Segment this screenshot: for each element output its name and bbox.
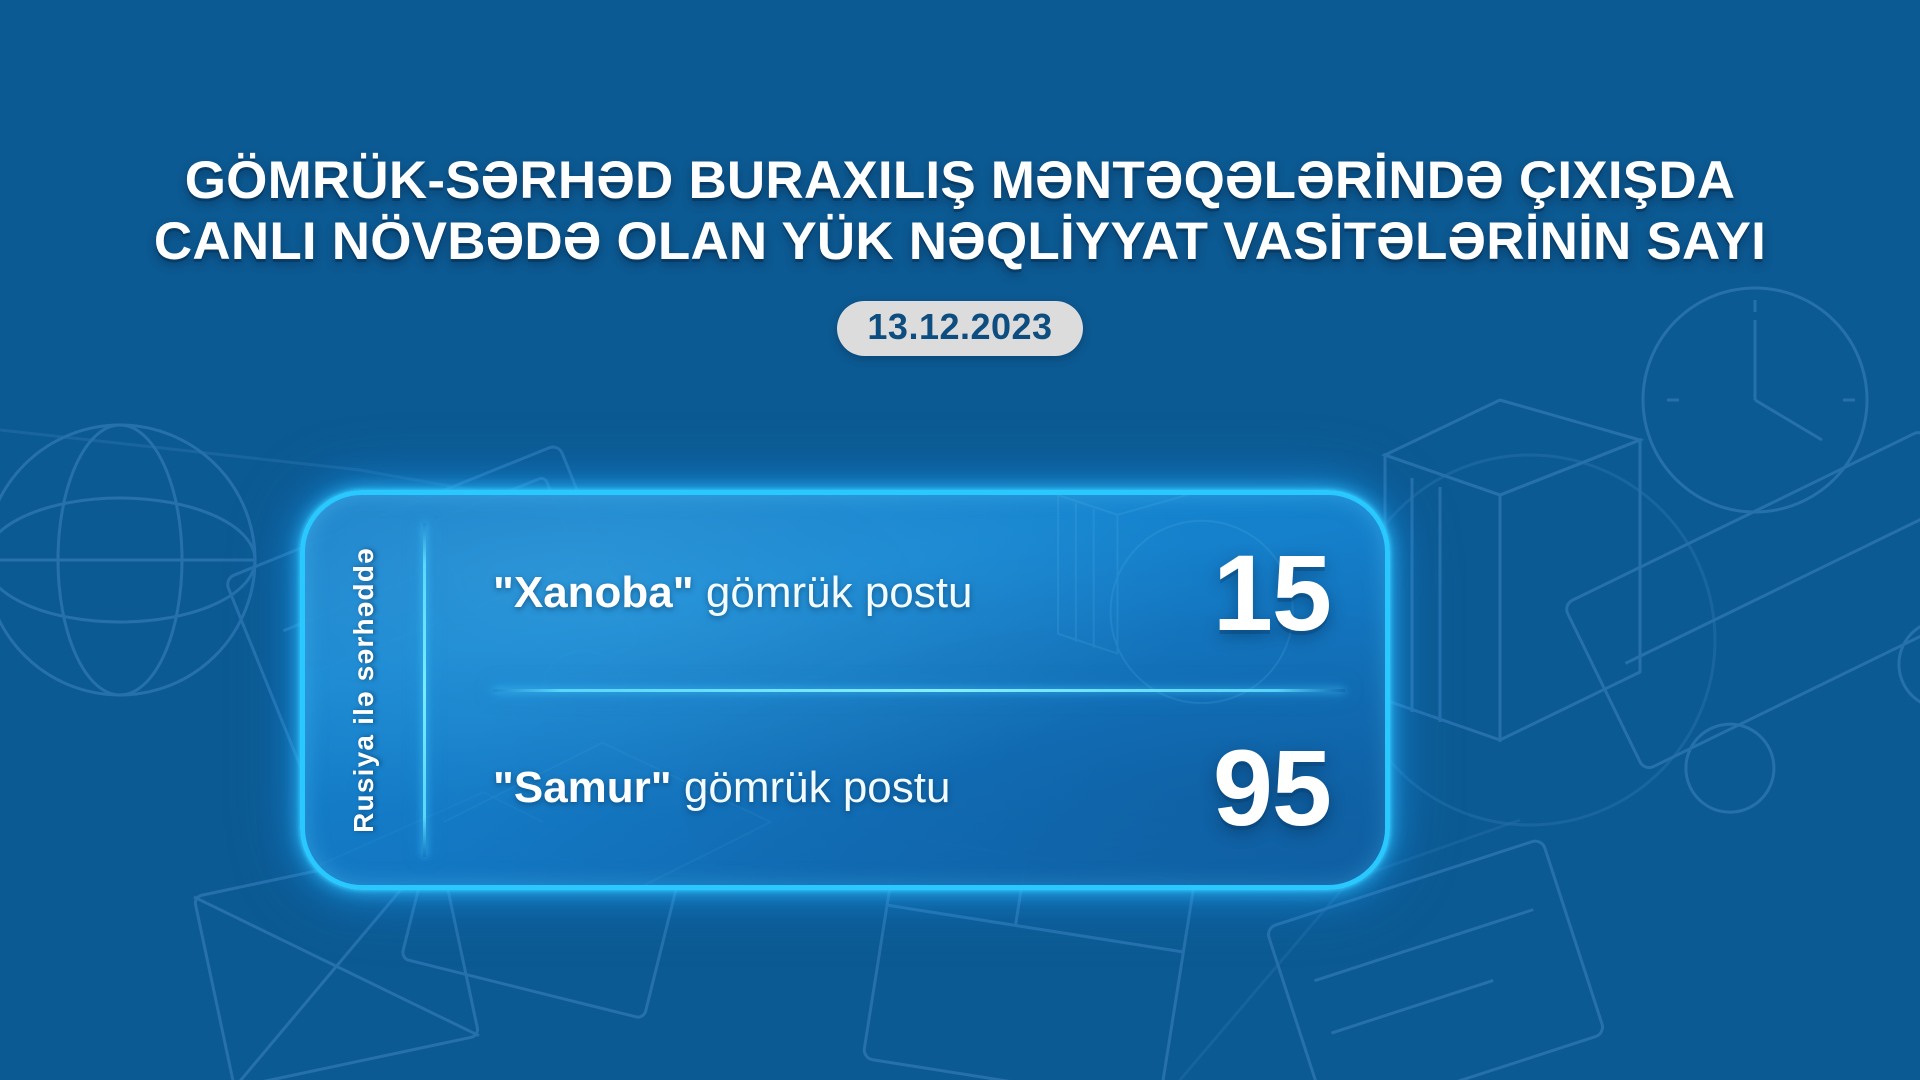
date-badge-container: 13.12.2023 bbox=[0, 301, 1920, 356]
stats-panel: Rusiya ilə sərhəddə "Xanoba" gömrük post… bbox=[300, 490, 1390, 890]
row-label: "Samur" gömrük postu bbox=[493, 763, 1151, 813]
infographic-stage: GÖMRÜK-SƏRHƏD BURAXILIŞ MƏNTƏQƏLƏRİNDƏ Ç… bbox=[0, 0, 1920, 1080]
row-label: "Xanoba" gömrük postu bbox=[493, 568, 1151, 618]
row-post-suffix: gömrük postu bbox=[672, 763, 951, 812]
table-row: "Xanoba" gömrük postu 15 bbox=[423, 495, 1385, 690]
side-label-text: Rusiya ilə sərhəddə bbox=[348, 547, 380, 833]
page-title-line-2: CANLI NÖVBƏDƏ OLAN YÜK NƏQLİYYAT VASİTƏL… bbox=[0, 211, 1920, 272]
row-value: 95 bbox=[1151, 734, 1331, 842]
stats-panel-frame: Rusiya ilə sərhəddə "Xanoba" gömrük post… bbox=[300, 490, 1390, 890]
header: GÖMRÜK-SƏRHƏD BURAXILIŞ MƏNTƏQƏLƏRİNDƏ Ç… bbox=[0, 150, 1920, 356]
side-label: Rusiya ilə sərhəddə bbox=[305, 495, 423, 885]
row-post-name: "Xanoba" bbox=[493, 568, 694, 617]
date-badge: 13.12.2023 bbox=[837, 301, 1082, 356]
row-post-suffix: gömrük postu bbox=[694, 568, 973, 617]
row-post-name: "Samur" bbox=[493, 763, 672, 812]
panel-row-divider bbox=[493, 689, 1345, 692]
table-row: "Samur" gömrük postu 95 bbox=[423, 690, 1385, 885]
row-value: 15 bbox=[1151, 539, 1331, 647]
stats-rows: "Xanoba" gömrük postu 15 "Samur" gömrük … bbox=[423, 495, 1385, 885]
page-title-line-1: GÖMRÜK-SƏRHƏD BURAXILIŞ MƏNTƏQƏLƏRİNDƏ Ç… bbox=[0, 150, 1920, 211]
